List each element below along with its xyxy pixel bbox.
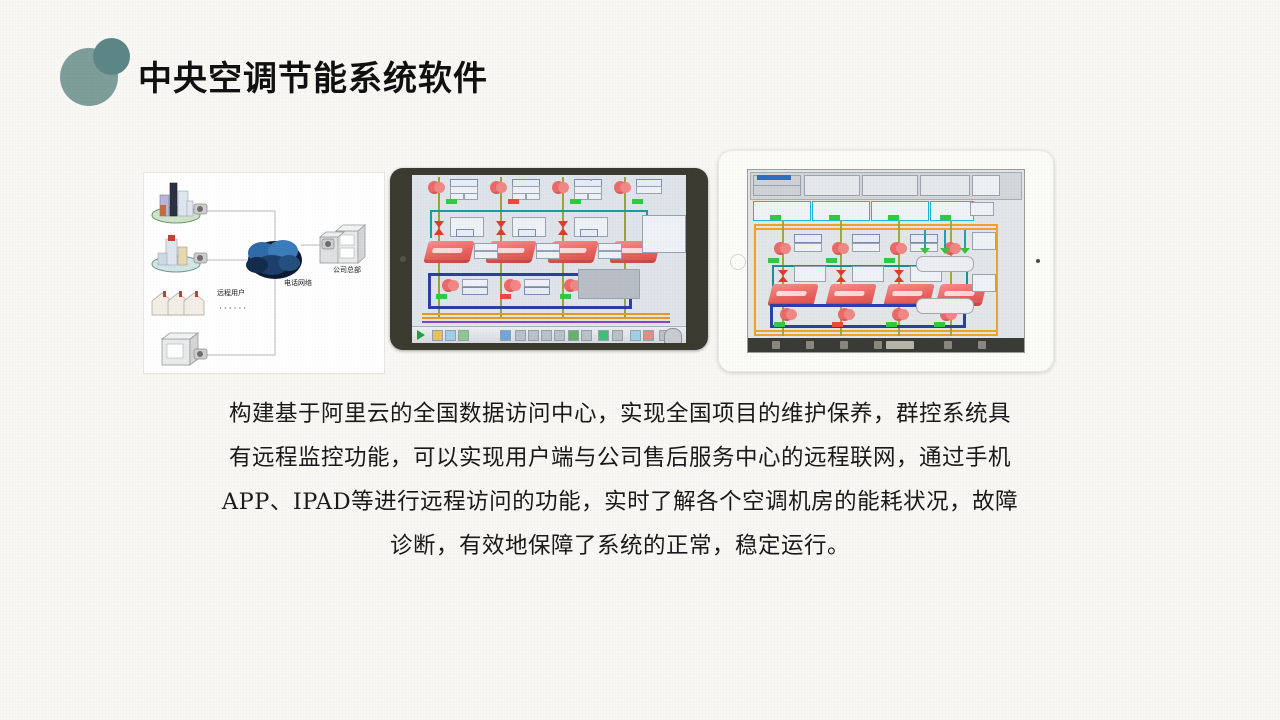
tablet-navigation-bar[interactable] [748,338,1024,352]
label-remote-users: 远程用户 [217,288,245,297]
caption-line-4: 诊断，有效地保障了系统的正常，稳定运行。 [190,524,1050,568]
caption-text: 构建基于阿里云的全国数据访问中心，实现全国项目的维护保养，群控系统具 有远程监控… [190,392,1050,568]
device-phone-frame [390,168,708,350]
tablet-camera-icon [1036,259,1040,263]
play-button-icon[interactable] [417,330,425,340]
icon-modem-4 [322,239,334,249]
caption-line-1: 构建基于阿里云的全国数据访问中心，实现全国项目的维护保养，群控系统具 [190,392,1050,436]
icon-modem-3 [194,349,207,359]
caption-line-3: APP、IPAD等进行远程访问的功能，实时了解各个空调机房的能耗状况，故障 [190,480,1050,524]
media-row: 远程用户 ······ 电话网络 公司总部 [0,140,1280,385]
scada-screen-phone [412,175,686,343]
logo-circle-small [93,38,130,75]
tablet-screen[interactable] [747,169,1025,353]
page-title: 中央空调节能系统软件 [138,55,488,103]
node-server-box [162,333,198,365]
icon-modem-1 [194,204,207,214]
network-topology-diagram: 远程用户 ······ 电话网络 公司总部 [143,172,385,374]
slide-header: 中央空调节能系统软件 [0,0,1280,140]
phone-screen[interactable] [412,175,686,343]
scada-screen-tablet [748,170,1024,352]
phone-home-dot-icon [400,256,406,262]
scada-toolbar[interactable] [412,326,686,343]
node-houses [152,291,204,315]
brand-logo-icon [60,38,134,106]
label-company-hq: 公司总部 [333,265,361,274]
device-tablet-frame [718,150,1054,372]
network-diagram-svg: 远程用户 ······ 电话网络 公司总部 [144,173,384,373]
caption-line-2: 有远程监控功能，可以实现用户端与公司售后服务中心的远程联网，通过手机 [190,436,1050,480]
icon-modem-2 [194,253,207,263]
tablet-home-button[interactable] [730,254,746,270]
label-telephone-network: 电话网络 [284,278,312,287]
label-remote-users-dots: ······ [219,304,248,314]
